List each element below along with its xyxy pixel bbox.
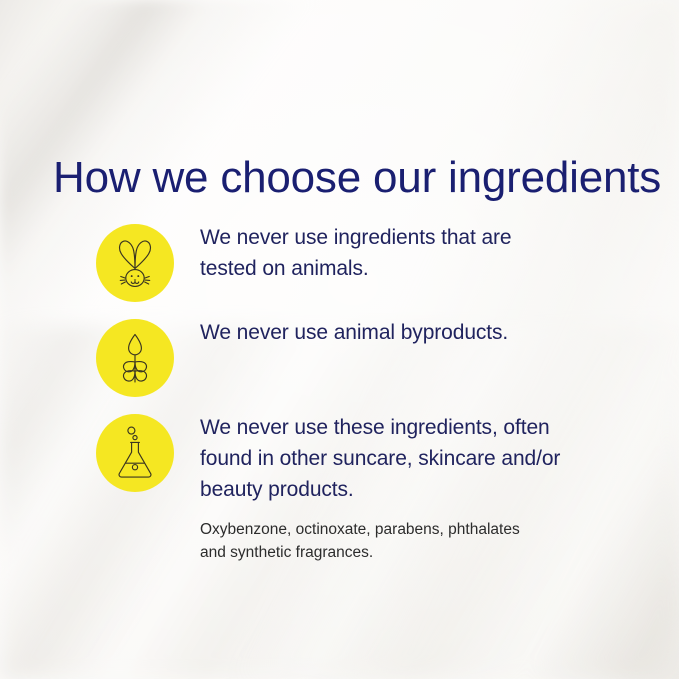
list-item-text: We never use ingredients that are tested… [200, 222, 620, 284]
list-item-note: Oxybenzone, octinoxate, parabens, phthal… [200, 518, 600, 564]
list-item-line: found in other suncare, skincare and/or [200, 443, 620, 474]
list-item-line: We never use animal byproducts. [200, 317, 620, 348]
list-item-note-line: Oxybenzone, octinoxate, parabens, phthal… [200, 518, 600, 541]
list-item-text: We never use animal byproducts. [200, 317, 620, 348]
ingredients-info-graphic: How we choose our ingredients [0, 0, 679, 679]
plant-sprig-icon [96, 319, 174, 397]
list-item-line: tested on animals. [200, 253, 620, 284]
lab-flask-icon [96, 414, 174, 492]
list-item-note-line: and synthetic fragrances. [200, 541, 600, 564]
list-item-line: We never use these ingredients, often [200, 412, 620, 443]
bunny-cruelty-free-icon [96, 224, 174, 302]
list-item-text: We never use these ingredients, often fo… [200, 412, 620, 505]
list-item-line: We never use ingredients that are [200, 222, 620, 253]
page-title: How we choose our ingredients [53, 153, 661, 202]
list-item-line: beauty products. [200, 474, 620, 505]
